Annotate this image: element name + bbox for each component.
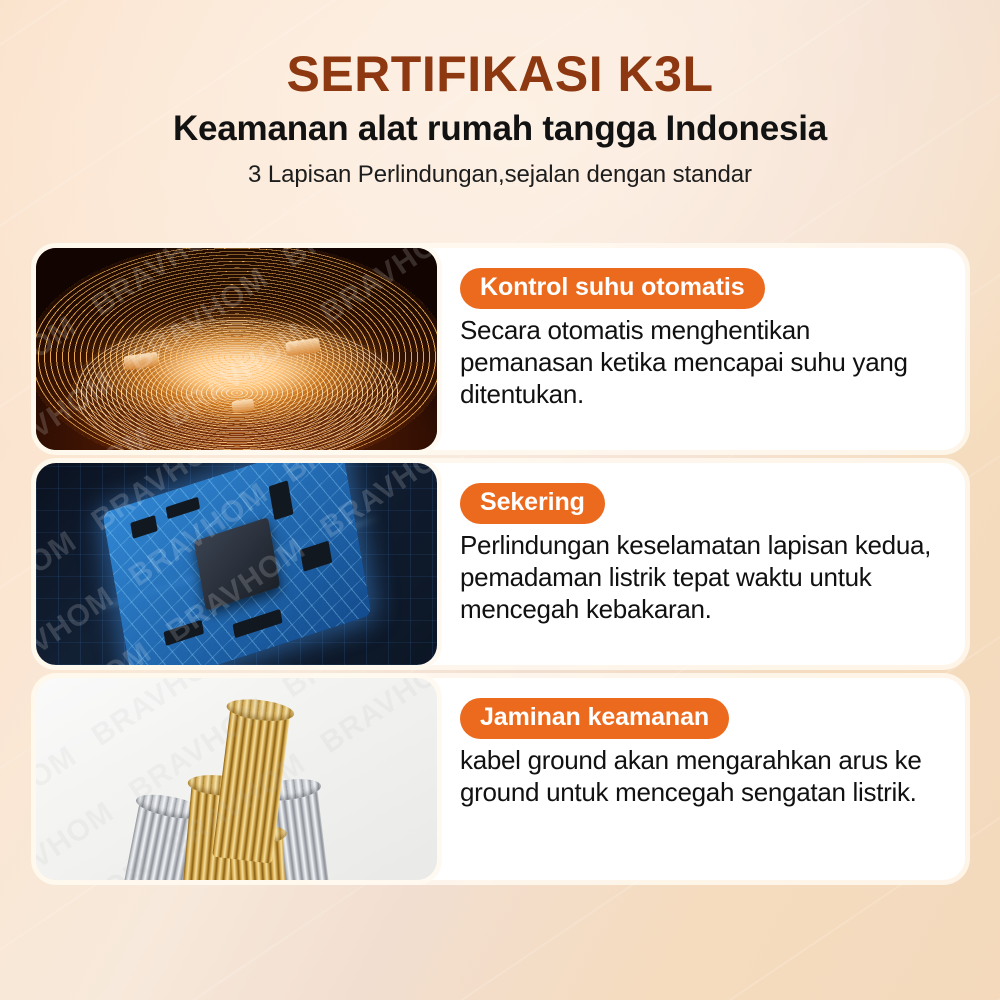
feature-row: Jaminan keamanan kabel ground akan menga… (0, 678, 1000, 880)
page-subtitle: Keamanan alat rumah tangga Indonesia (0, 110, 1000, 149)
page-title: SERTIFIKASI K3L (0, 48, 1000, 100)
feature-description: Perlindungan keselamatan lapisan kedua, … (460, 530, 950, 626)
feature-badge: Kontrol suhu otomatis (460, 268, 765, 309)
feature-list: Kontrol suhu otomatis Secara otomatis me… (0, 248, 1000, 880)
circuit-board-photo: BRAVHOM BRAVHOM BRAVHOM BRAVHOM BRAVHOM … (36, 463, 437, 665)
pcb-image-graphic (36, 463, 437, 665)
cable-image-graphic (36, 678, 437, 880)
feature-text-body: Kontrol suhu otomatis Secara otomatis me… (460, 268, 950, 411)
feature-badge: Jaminan keamanan (460, 698, 729, 739)
coil-image-graphic (36, 248, 437, 450)
copper-cable-photo: BRAVHOM BRAVHOM BRAVHOM BRAVHOM BRAVHOM … (36, 678, 437, 880)
page-tagline: 3 Lapisan Perlindungan,sejalan dengan st… (0, 161, 1000, 189)
feature-row: Kontrol suhu otomatis Secara otomatis me… (0, 248, 1000, 450)
induction-coil-photo: BRAVHOM BRAVHOM BRAVHOM BRAVHOM BRAVHOM … (36, 248, 437, 450)
header: SERTIFIKASI K3L Keamanan alat rumah tang… (0, 48, 1000, 189)
feature-badge: Sekering (460, 483, 605, 524)
feature-row: Sekering Perlindungan keselamatan lapisa… (0, 463, 1000, 665)
feature-description: Secara otomatis menghentikan pemanasan k… (460, 315, 950, 411)
feature-text-body: Jaminan keamanan kabel ground akan menga… (460, 698, 950, 809)
feature-description: kabel ground akan mengarahkan arus ke gr… (460, 745, 950, 809)
feature-text-body: Sekering Perlindungan keselamatan lapisa… (460, 483, 950, 626)
poster-root: SERTIFIKASI K3L Keamanan alat rumah tang… (0, 0, 1000, 1000)
